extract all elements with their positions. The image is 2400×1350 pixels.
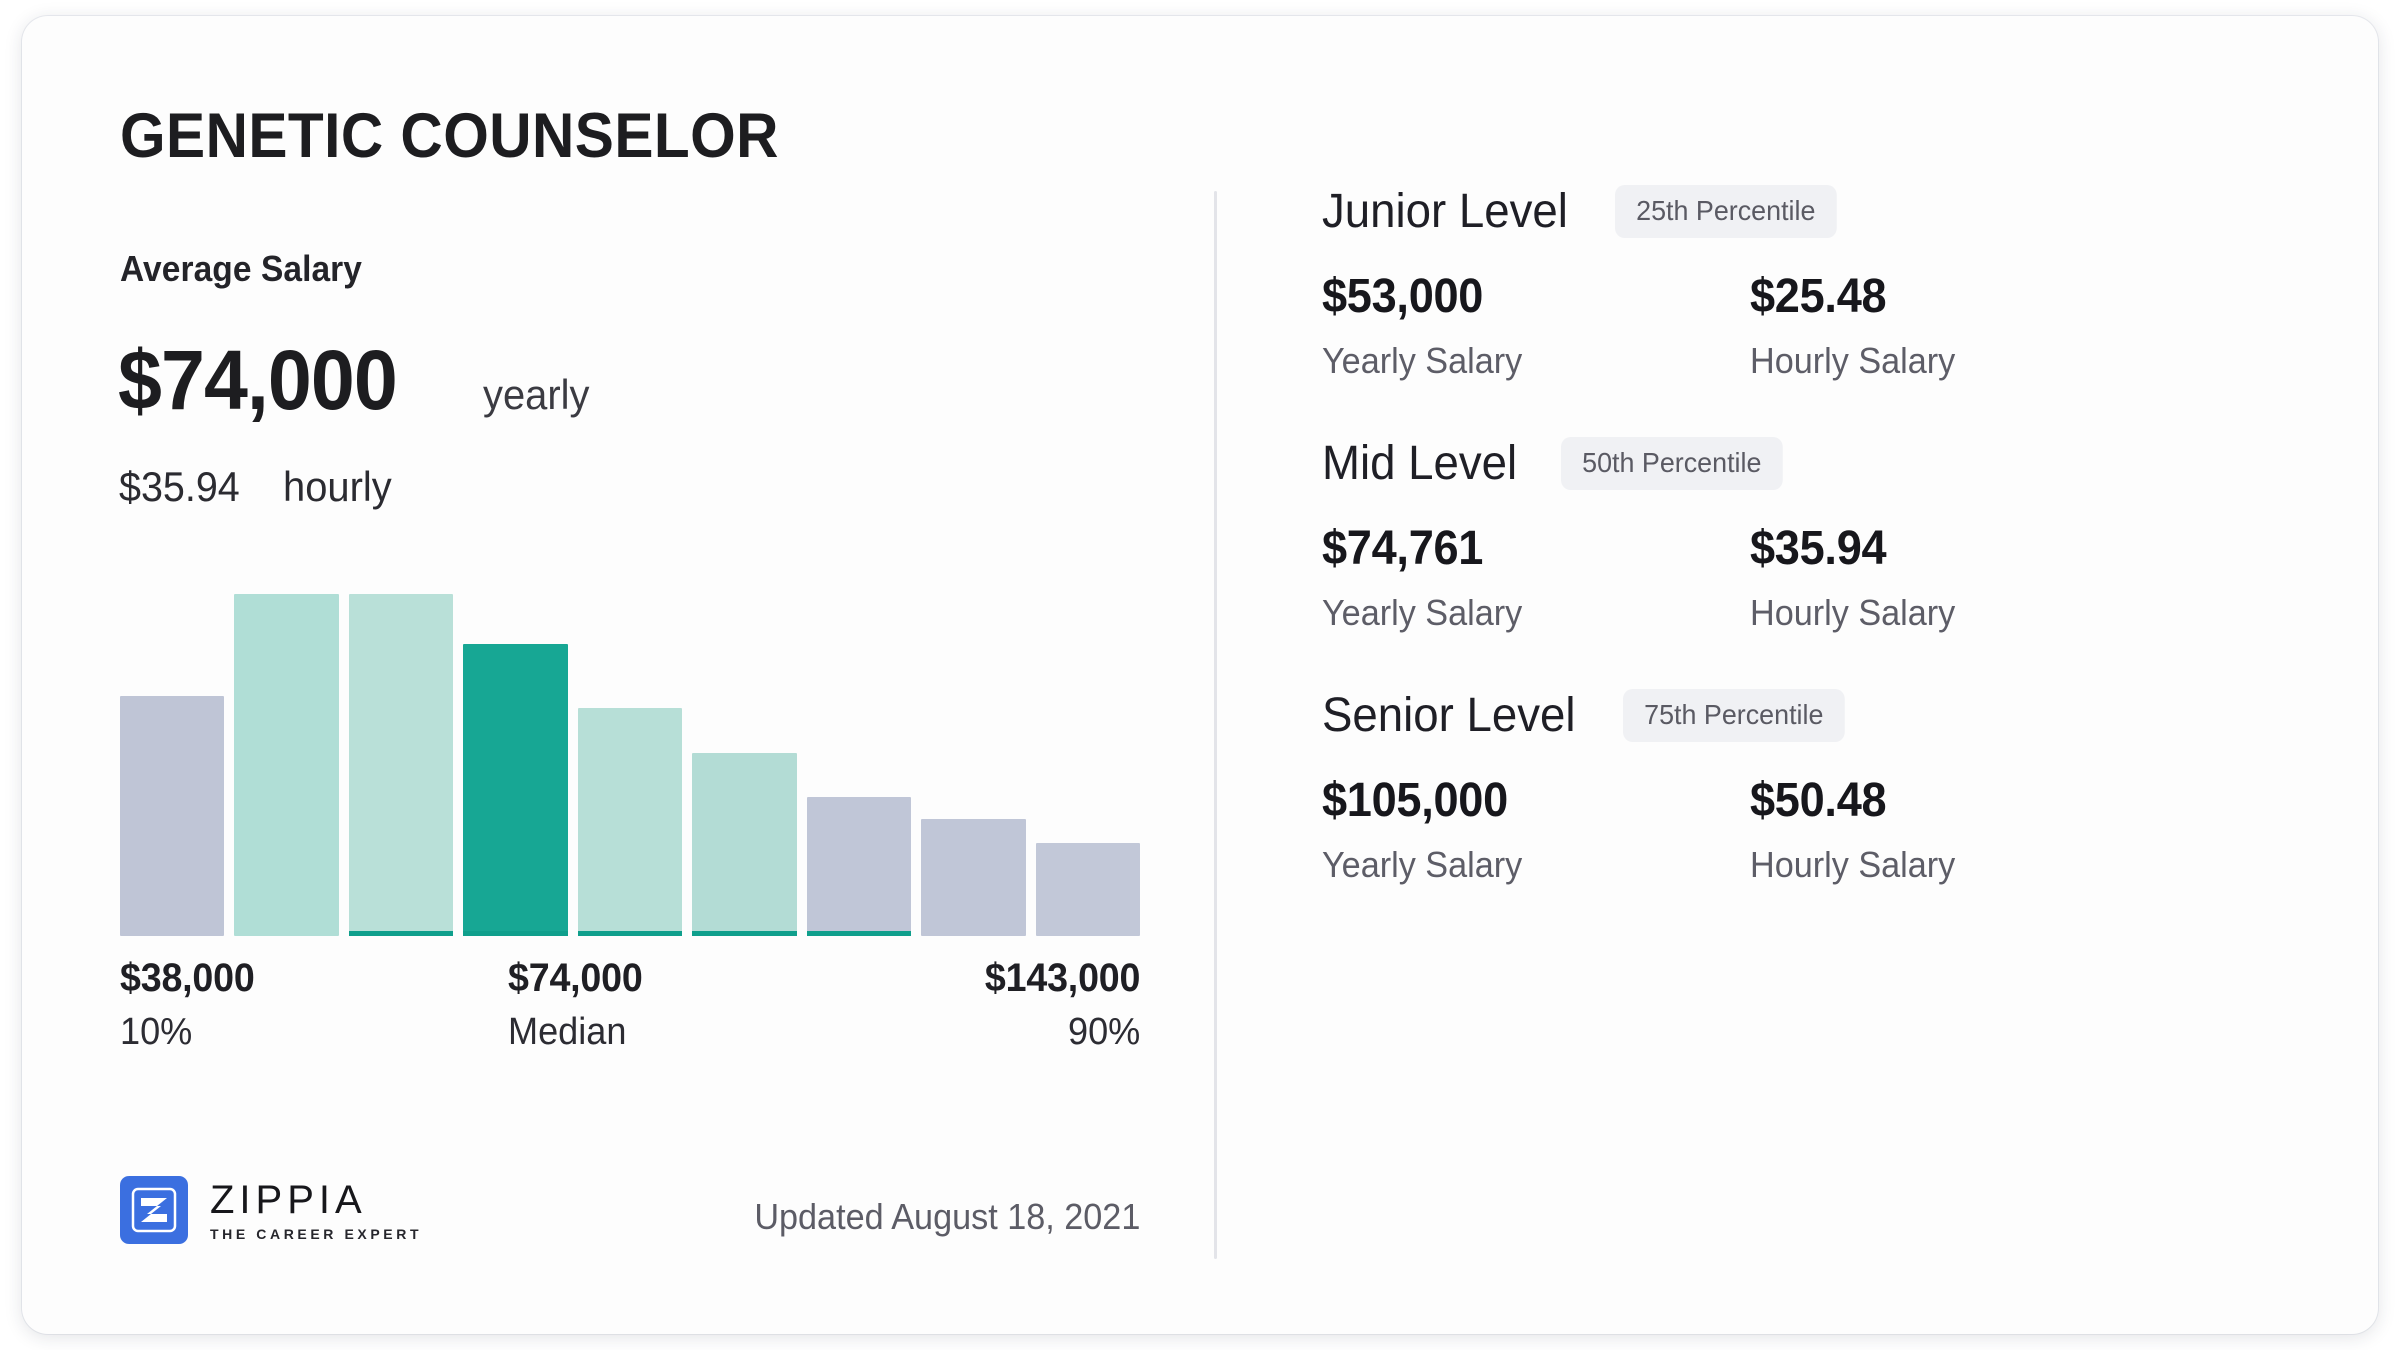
average-salary-label: Average Salary bbox=[120, 248, 362, 290]
card-footer: ZIPPIA THE CAREER EXPERT Updated August … bbox=[120, 1176, 1140, 1266]
level-stats: $105,000Yearly Salary$50.48Hourly Salary bbox=[1322, 777, 2362, 927]
updated-date: Updated August 18, 2021 bbox=[754, 1196, 1140, 1238]
hourly-salary-stat: $50.48Hourly Salary bbox=[1750, 777, 1966, 883]
hourly-salary-value: $50.48 bbox=[1750, 777, 1953, 825]
chart-axis-low-sub: 10% bbox=[120, 1011, 256, 1054]
chart-bar-underline bbox=[349, 931, 453, 936]
hourly-salary-label: Hourly Salary bbox=[1750, 847, 1955, 883]
hourly-salary-value: $25.48 bbox=[1750, 273, 1953, 321]
level-header: Mid Level50th Percentile bbox=[1322, 436, 2362, 491]
level-title: Junior Level bbox=[1322, 184, 1568, 239]
yearly-salary-label: Yearly Salary bbox=[1322, 343, 1522, 379]
chart-bar-underline bbox=[463, 931, 567, 936]
hourly-salary-label: Hourly Salary bbox=[1750, 343, 1955, 379]
hourly-salary-label: Hourly Salary bbox=[1750, 595, 1955, 631]
yearly-salary-value: $53,000 bbox=[1322, 273, 1520, 321]
chart-axis-high-amount: $143,000 bbox=[985, 956, 1140, 1001]
level-block: Senior Level75th Percentile$105,000Yearl… bbox=[1322, 688, 2362, 927]
percentile-badge: 50th Percentile bbox=[1561, 437, 1783, 490]
chart-bar-underline bbox=[578, 931, 682, 936]
level-header: Senior Level75th Percentile bbox=[1322, 688, 2362, 743]
chart-bar bbox=[921, 819, 1025, 936]
chart-bar bbox=[807, 797, 911, 937]
right-panel: Junior Level25th Percentile$53,000Yearly… bbox=[1322, 16, 2372, 1334]
yearly-salary-value: $105,000 bbox=[1322, 777, 1520, 825]
salary-distribution-chart bbox=[120, 576, 1140, 936]
level-title: Mid Level bbox=[1322, 436, 1517, 491]
level-block: Junior Level25th Percentile$53,000Yearly… bbox=[1322, 184, 2362, 423]
brand-tagline: THE CAREER EXPERT bbox=[210, 1227, 422, 1241]
chart-bar bbox=[692, 753, 796, 936]
chart-axis-low-amount: $38,000 bbox=[120, 956, 255, 1001]
chart-bar bbox=[578, 708, 682, 936]
percentile-badge: 75th Percentile bbox=[1623, 689, 1845, 742]
zippia-z-icon bbox=[120, 1176, 188, 1244]
chart-bar-underline bbox=[807, 931, 911, 936]
chart-axis-median: $74,000 Median bbox=[508, 956, 651, 1054]
yearly-salary-value: $74,761 bbox=[1322, 525, 1520, 573]
level-title: Senior Level bbox=[1322, 688, 1576, 743]
chart-axis-labels: $38,000 10% $74,000 Median $143,000 90% bbox=[120, 956, 1140, 1076]
chart-axis-high-sub: 90% bbox=[983, 1011, 1140, 1054]
hourly-salary-stat: $25.48Hourly Salary bbox=[1750, 273, 1966, 379]
salary-card: GENETIC COUNSELOR Average Salary $74,000… bbox=[22, 16, 2378, 1334]
chart-bar bbox=[1036, 843, 1140, 936]
level-stats: $53,000Yearly Salary$25.48Hourly Salary bbox=[1322, 273, 2362, 423]
yearly-salary-stat: $74,761Yearly Salary bbox=[1322, 525, 1533, 631]
brand-text: ZIPPIA THE CAREER EXPERT bbox=[210, 1180, 422, 1241]
hourly-salary-stat: $35.94Hourly Salary bbox=[1750, 525, 1966, 631]
chart-bar bbox=[120, 696, 224, 936]
left-panel: GENETIC COUNSELOR Average Salary $74,000… bbox=[22, 16, 1238, 1334]
chart-axis-high: $143,000 90% bbox=[975, 956, 1140, 1054]
hourly-salary-value: $35.94 bbox=[1750, 525, 1953, 573]
average-yearly-amount: $74,000 bbox=[118, 338, 397, 422]
yearly-salary-label: Yearly Salary bbox=[1322, 595, 1522, 631]
chart-bar bbox=[463, 644, 567, 937]
average-hourly-unit: hourly bbox=[283, 463, 392, 511]
chart-bar-underline bbox=[692, 931, 796, 936]
brand-name: ZIPPIA bbox=[210, 1180, 422, 1220]
chart-axis-median-amount: $74,000 bbox=[508, 956, 643, 1001]
level-block: Mid Level50th Percentile$74,761Yearly Sa… bbox=[1322, 436, 2362, 675]
average-yearly-unit: yearly bbox=[483, 371, 589, 419]
chart-bar bbox=[349, 594, 453, 936]
panel-divider bbox=[1214, 191, 1217, 1259]
percentile-badge: 25th Percentile bbox=[1615, 185, 1837, 238]
zippia-logo[interactable]: ZIPPIA THE CAREER EXPERT bbox=[120, 1176, 422, 1244]
average-yearly-row: $74,000 yearly bbox=[118, 338, 595, 422]
average-hourly-row: $35.94 hourly bbox=[119, 463, 398, 511]
yearly-salary-label: Yearly Salary bbox=[1322, 847, 1522, 883]
level-header: Junior Level25th Percentile bbox=[1322, 184, 2362, 239]
average-hourly-amount: $35.94 bbox=[119, 463, 240, 511]
yearly-salary-stat: $105,000Yearly Salary bbox=[1322, 777, 1533, 883]
level-stats: $74,761Yearly Salary$35.94Hourly Salary bbox=[1322, 525, 2362, 675]
page-title: GENETIC COUNSELOR bbox=[120, 100, 779, 172]
chart-bar bbox=[234, 594, 338, 936]
chart-axis-low: $38,000 10% bbox=[120, 956, 263, 1054]
chart-axis-median-sub: Median bbox=[508, 1011, 644, 1054]
yearly-salary-stat: $53,000Yearly Salary bbox=[1322, 273, 1533, 379]
